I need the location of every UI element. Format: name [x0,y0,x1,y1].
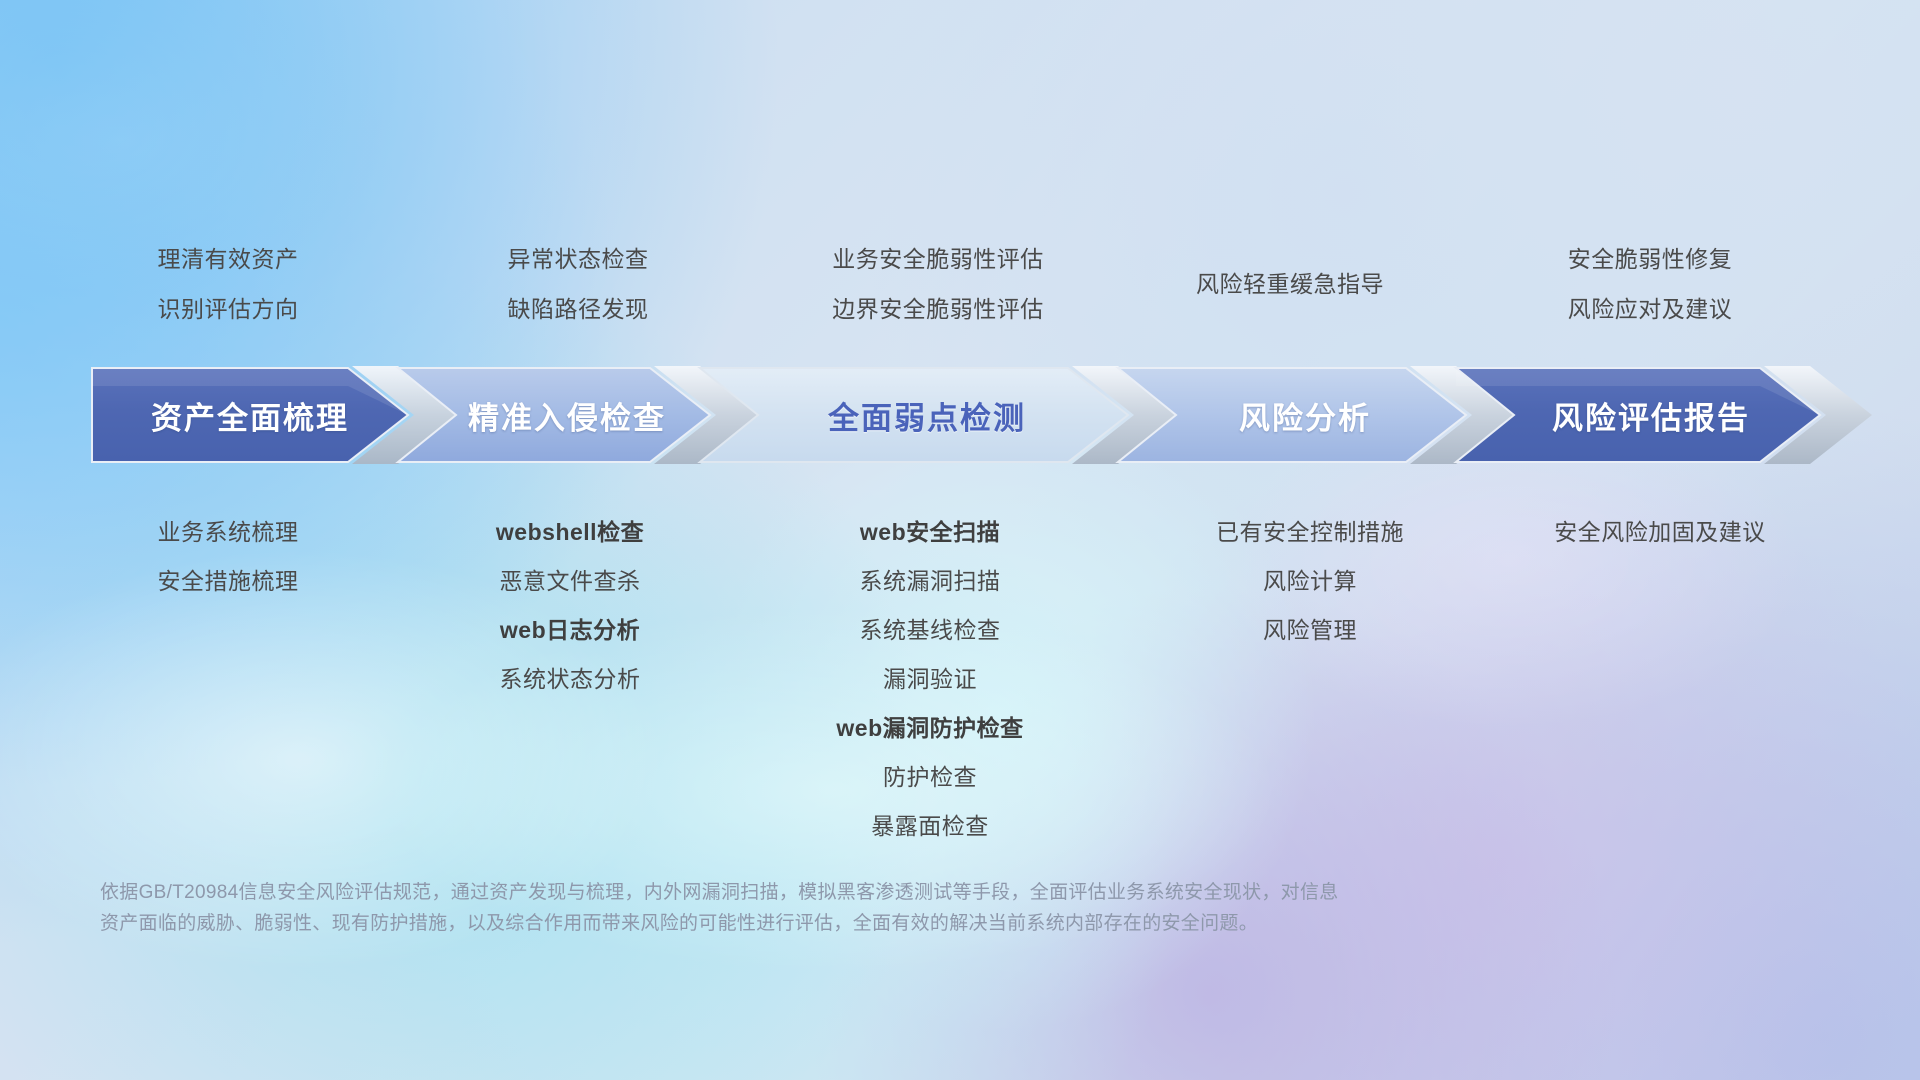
footer-line-1: 依据GB/T20984信息安全风险评估规范，通过资产发现与梳理，内外网漏洞扫描，… [100,878,1680,909]
stage-3-title[interactable]: 全面弱点检测 [726,366,1128,464]
stage-4-bottom-item-3: 风险管理 [1263,619,1357,642]
stage-3-bottom-item-5: web漏洞防护检查 [836,717,1023,740]
stage-5-top-item-1: 安全脆弱性修复 [1568,248,1733,271]
stage-5-bottom-item-1: 安全风险加固及建议 [1554,521,1766,544]
stage-2-bottom-item-1: webshell检查 [496,521,644,544]
stage-2-top-item-1: 异常状态检查 [508,248,649,271]
stage-2-top-item-2: 缺陷路径发现 [508,298,649,321]
stage-5-title[interactable]: 风险评估报告 [1482,366,1820,464]
stage-1-title[interactable]: 资产全面梳理 [92,366,408,464]
stage-3-bottom-item-7: 暴露面检查 [871,815,989,838]
stage-4-bottom-item-1: 已有安全控制措施 [1216,521,1404,544]
stage-1-bottom-item-1: 业务系统梳理 [158,521,299,544]
stage-3-bottom-item-4: 漏洞验证 [883,668,977,691]
stage-2-title[interactable]: 精准入侵检查 [424,366,710,464]
stage-3-bottom-item-6: 防护检查 [883,766,977,789]
stage-3-bottom-item-1: web安全扫描 [860,521,1000,544]
stage-2-bottom-item-3: web日志分析 [500,619,640,642]
stage-2-bottom-item-4: 系统状态分析 [500,668,641,691]
stage-1-top-item-1: 理清有效资产 [158,248,299,271]
stage-4-title[interactable]: 风险分析 [1144,366,1466,464]
stage-4-top-item-1: 风险轻重缓急指导 [1196,273,1384,296]
stage-1-top-item-2: 识别评估方向 [158,298,299,321]
stage-3-top-item-1: 业务安全脆弱性评估 [832,248,1044,271]
stage-2-bottom-item-2: 恶意文件查杀 [500,570,641,593]
stage-5-top-item-2: 风险应对及建议 [1568,298,1733,321]
stage-4-bottom-item-2: 风险计算 [1263,570,1357,593]
stage-1-bottom-item-2: 安全措施梳理 [158,570,299,593]
process-diagram: 资产全面梳理 精准入侵检查 全面弱点检测 风险分析 风险评估报告 理清有效资产 … [0,0,1920,1080]
footer-line-2: 资产面临的威胁、脆弱性、现有防护措施，以及综合作用而带来风险的可能性进行评估，全… [100,909,1680,940]
stage-3-top-item-2: 边界安全脆弱性评估 [832,298,1044,321]
stage-3-bottom-item-3: 系统基线检查 [860,619,1001,642]
footer-description: 依据GB/T20984信息安全风险评估规范，通过资产发现与梳理，内外网漏洞扫描，… [100,878,1680,940]
stage-3-bottom-item-2: 系统漏洞扫描 [860,570,1001,593]
